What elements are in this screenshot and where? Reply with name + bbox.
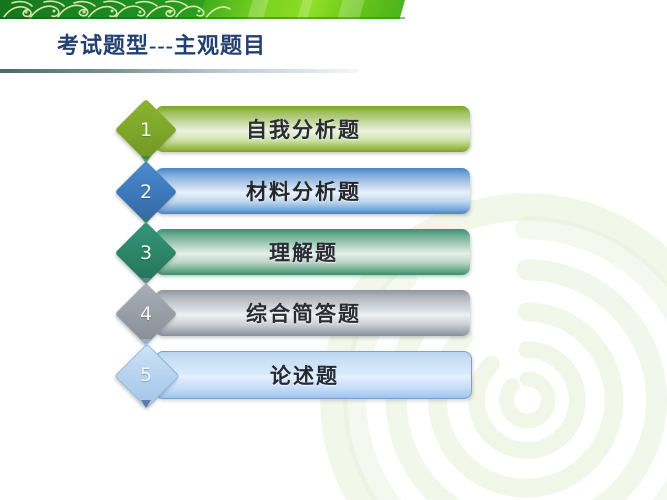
item-badge[interactable]: 3 [113,220,179,286]
item-bar[interactable]: 综合简答题 [155,290,470,336]
connector-marker-icon [141,278,151,286]
item-badge[interactable]: 2 [113,159,179,225]
item-number: 3 [113,220,179,286]
connector-marker-icon [141,400,151,408]
item-label: 材料分析题 [155,176,452,206]
item-number: 2 [113,159,179,225]
list-item[interactable]: 材料分析题 2 [0,160,667,222]
item-bar[interactable]: 材料分析题 [155,168,470,214]
item-bar[interactable]: 理解题 [155,229,470,275]
item-number: 4 [113,281,179,347]
item-badge[interactable]: 5 [113,342,179,408]
item-number: 1 [113,97,179,163]
item-badge[interactable]: 1 [113,97,179,163]
list-item[interactable]: 理解题 3 [0,221,667,283]
item-label: 自我分析题 [155,114,452,144]
item-label: 理解题 [155,237,452,267]
item-bar[interactable]: 自我分析题 [155,106,470,152]
list-item[interactable]: 自我分析题 1 [0,98,667,160]
item-label: 综合简答题 [155,298,452,328]
item-bar[interactable]: 论述题 [155,351,472,399]
item-badge[interactable]: 4 [113,281,179,347]
title-underline-rule [0,69,358,73]
connector-marker-icon [141,339,151,347]
list-item[interactable]: 综合简答题 4 [0,282,667,344]
list-item[interactable]: 论述题 5 [0,343,667,405]
connector-marker-icon [141,156,151,164]
header-ornament-band [0,0,405,19]
slide-canvas: 考试题型---主观题目 自我分析题 1 材料分析题 2 理解题 3 综合简答题 [0,0,667,500]
item-label: 论述题 [156,360,453,390]
page-title: 考试题型---主观题目 [57,28,266,60]
item-number: 5 [113,342,179,408]
connector-marker-icon [141,217,151,225]
band-bottom-edge [0,17,405,19]
